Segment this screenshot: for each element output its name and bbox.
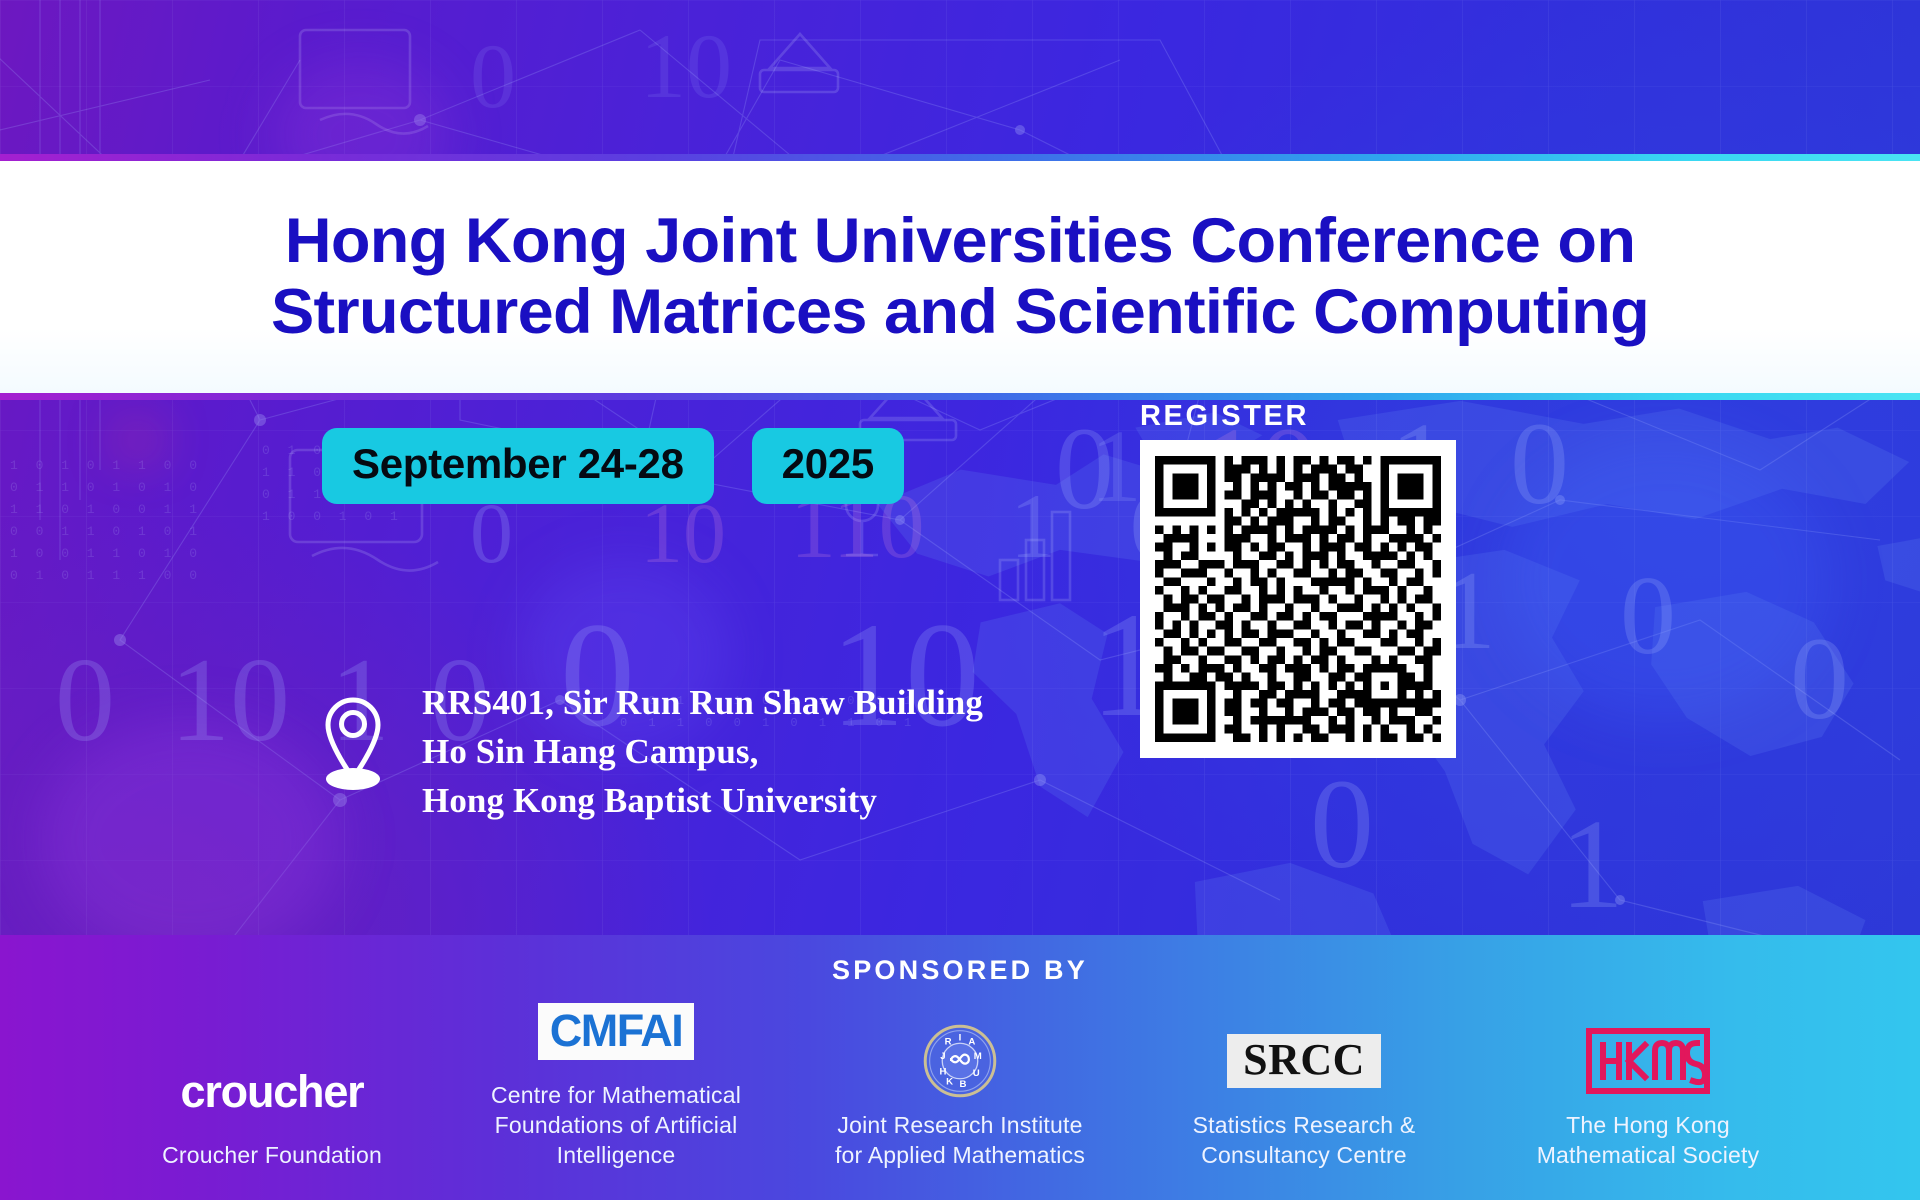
sponsor-name-line-1: Centre for Mathematical (444, 1080, 788, 1110)
sponsor-name-line-2: Foundations of Artificial Intelligence (444, 1110, 788, 1170)
qr-code[interactable] (1140, 440, 1456, 758)
srcc-logo: SRCC (1227, 1024, 1381, 1098)
conference-poster: 0 10 1 0 0 10 110 1 0 0 10 1 0 10 1 0 1 … (0, 0, 1920, 1200)
title-band: Hong Kong Joint Universities Conference … (0, 161, 1920, 393)
svg-text:R: R (945, 1037, 952, 1048)
cmfai-logo: CMFAI (538, 994, 695, 1068)
sponsor-name: Statistics Research & Consultancy Centre (1193, 1110, 1416, 1170)
page-title: Hong Kong Joint Universities Conference … (157, 206, 1764, 347)
title-line-2: Structured Matrices and Scientific Compu… (271, 277, 1649, 347)
venue-line-1: RRS401, Sir Run Run Shaw Building (422, 678, 983, 727)
sponsor-name-line-2: for Applied Mathematics (835, 1140, 1085, 1170)
srcc-logo-box: SRCC (1227, 1034, 1381, 1088)
sponsor-name-line-1: Statistics Research & (1193, 1110, 1416, 1140)
cmfai-wordmark: CMFAI (550, 1005, 683, 1056)
jriam-emblem-icon: J R I A M H K B U (923, 1024, 997, 1098)
venue-line-3: Hong Kong Baptist University (422, 776, 983, 825)
sponsor-name: Joint Research Institute for Applied Mat… (835, 1110, 1085, 1170)
year-chip: 2025 (752, 428, 904, 504)
hkms-logo (1585, 1024, 1711, 1098)
svg-text:H: H (940, 1066, 947, 1077)
hkms-emblem-icon (1585, 1027, 1711, 1095)
svg-text:U: U (973, 1068, 980, 1079)
register-label: REGISTER (1140, 400, 1460, 433)
sponsor-row: croucher Croucher Foundation CMFAI Centr… (0, 994, 1920, 1170)
svg-text:M: M (974, 1051, 982, 1062)
sponsor-name: Croucher Foundation (162, 1140, 382, 1170)
accent-rule-bottom (0, 393, 1920, 400)
sponsor-name: Centre for Mathematical Foundations of A… (444, 1080, 788, 1170)
event-details-section: September 24-28 2025 RRS401, Sir Run Run… (0, 400, 1920, 935)
sponsor-name-line-1: Joint Research Institute (835, 1110, 1085, 1140)
svg-text:J: J (940, 1051, 945, 1062)
sponsor-name-line-2: Mathematical Society (1537, 1140, 1760, 1170)
date-chip: September 24-28 (322, 428, 714, 504)
sponsor-jriam[interactable]: J R I A M H K B U Joint (788, 1024, 1132, 1170)
svg-text:I: I (959, 1032, 962, 1043)
venue-block: RRS401, Sir Run Run Shaw Building Ho Sin… (322, 678, 983, 825)
croucher-logo: croucher (181, 1054, 364, 1128)
date-row: September 24-28 2025 (322, 428, 904, 504)
sponsor-name: The Hong Kong Mathematical Society (1537, 1110, 1760, 1170)
sponsor-name-line-1: Croucher Foundation (162, 1140, 382, 1170)
sponsored-by-heading: SPONSORED BY (0, 935, 1920, 986)
sponsor-croucher[interactable]: croucher Croucher Foundation (100, 1054, 444, 1170)
title-line-1: Hong Kong Joint Universities Conference … (285, 206, 1636, 276)
svg-text:A: A (968, 1037, 975, 1048)
sponsor-srcc[interactable]: SRCC Statistics Research & Consultancy C… (1132, 1024, 1476, 1170)
sponsor-name-line-1: The Hong Kong (1537, 1110, 1760, 1140)
sponsor-name-line-2: Consultancy Centre (1193, 1140, 1416, 1170)
accent-rule-top (0, 154, 1920, 161)
sponsor-hkms[interactable]: The Hong Kong Mathematical Society (1476, 1024, 1820, 1170)
register-block[interactable]: REGISTER (1140, 400, 1460, 758)
croucher-wordmark: croucher (181, 1069, 364, 1114)
qr-code-image (1155, 455, 1441, 743)
svg-text:B: B (959, 1079, 966, 1090)
cmfai-logo-box: CMFAI (538, 1003, 695, 1060)
venue-line-2: Ho Sin Hang Campus, (422, 727, 983, 776)
jriam-logo: J R I A M H K B U (923, 1024, 997, 1098)
sponsors-footer: SPONSORED BY croucher Croucher Foundatio… (0, 935, 1920, 1200)
venue-address: RRS401, Sir Run Run Shaw Building Ho Sin… (422, 678, 983, 825)
sponsor-cmfai[interactable]: CMFAI Centre for Mathematical Foundation… (444, 994, 788, 1170)
srcc-wordmark: SRCC (1243, 1035, 1365, 1084)
location-pin-icon (322, 694, 384, 792)
svg-text:K: K (946, 1077, 953, 1088)
